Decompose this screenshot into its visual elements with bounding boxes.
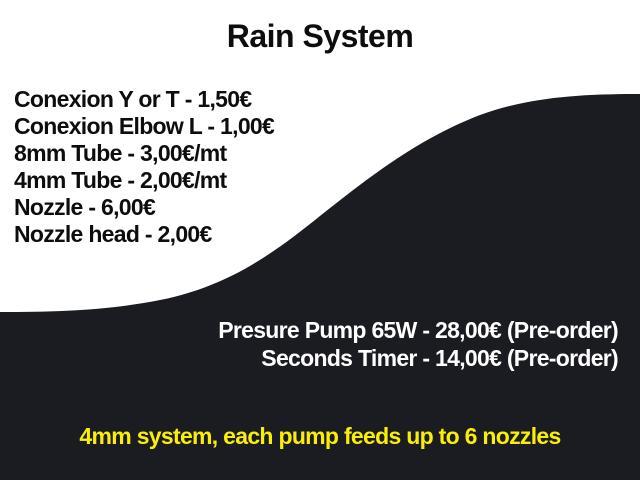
price-list-item: Nozzle head - 2,00€ [14,221,414,248]
footnote-text: 4mm system, each pump feeds up to 6 nozz… [0,425,640,448]
price-list-item: Conexion Y or T - 1,50€ [14,86,414,113]
preorder-list: Presure Pump 65W - 28,00€ (Pre-order) Se… [58,316,618,372]
page-title: Rain System [0,20,640,52]
preorder-list-item: Seconds Timer - 14,00€ (Pre-order) [58,344,618,372]
rain-system-poster: Rain System Conexion Y or T - 1,50€ Cone… [0,0,640,480]
preorder-list-item: Presure Pump 65W - 28,00€ (Pre-order) [58,316,618,344]
price-list-item: Nozzle - 6,00€ [14,194,414,221]
price-list-item: 4mm Tube - 2,00€/mt [14,167,414,194]
price-list-item: 8mm Tube - 3,00€/mt [14,140,414,167]
price-list-item: Conexion Elbow L - 1,00€ [14,113,414,140]
price-list: Conexion Y or T - 1,50€ Conexion Elbow L… [14,86,414,248]
